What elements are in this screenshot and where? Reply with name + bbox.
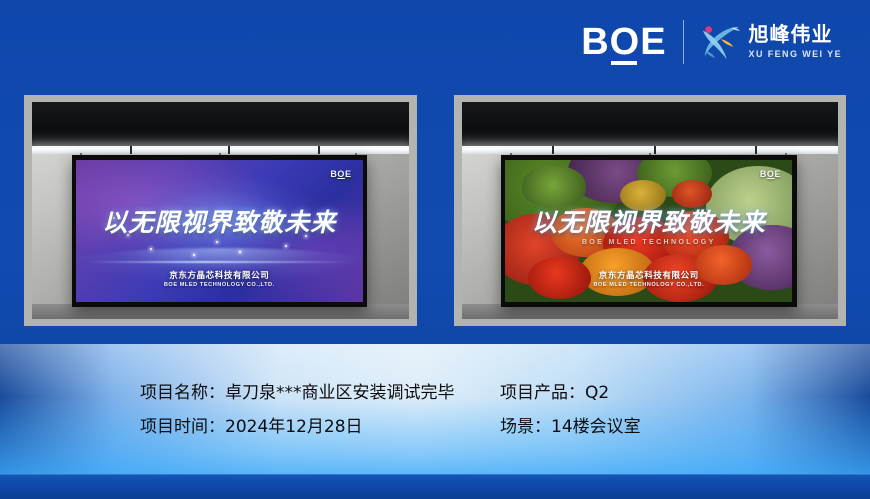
boe-logo-text: BOE <box>581 22 666 62</box>
ceiling <box>32 102 409 150</box>
led-screen-bezel-right: BOE 以无限视界致敬未来 BOE MLED TECHNOLOGY 京东方晶芯科… <box>501 155 797 307</box>
screen-glow-line <box>87 261 351 263</box>
partner-bird-icon <box>700 22 742 62</box>
footer-strip <box>0 474 870 499</box>
caption-grid: 项目名称：卓刀泉***商业区安装调试完毕 项目时间：2024年12月28日 项目… <box>0 344 870 475</box>
caption-value-product: Q2 <box>585 383 609 403</box>
caption-column-left: 项目名称：卓刀泉***商业区安装调试完毕 项目时间：2024年12月28日 <box>140 383 500 437</box>
led-screen-right: BOE 以无限视界致敬未来 BOE MLED TECHNOLOGY 京东方晶芯科… <box>505 160 792 301</box>
caption-label-product: 项目产品： <box>500 383 585 403</box>
photo-frame-right: BOE 以无限视界致敬未来 BOE MLED TECHNOLOGY 京东方晶芯科… <box>454 95 847 326</box>
partner-name-cn: 旭峰伟业 <box>749 24 842 46</box>
caption-panel: 项目名称：卓刀泉***商业区安装调试完毕 项目时间：2024年12月28日 项目… <box>0 344 870 475</box>
caption-row-product: 项目产品：Q2 <box>500 383 641 403</box>
led-screen-bezel-left: BOE 以无限视界致敬未来 京东方晶芯科技有限公司 BOE MLED TECHN… <box>72 155 368 307</box>
poster-canvas: BOE 旭峰伟业 XU FENG WEI YE <box>0 0 870 499</box>
screen-corp-en-left: BOE MLED TECHNOLOGY CO.,LTD. <box>76 281 363 289</box>
caption-row-scene: 场景：14楼会议室 <box>500 417 641 437</box>
photo-right: BOE 以无限视界致敬未来 BOE MLED TECHNOLOGY 京东方晶芯科… <box>462 102 839 319</box>
screen-corp-left: 京东方晶芯科技有限公司 BOE MLED TECHNOLOGY CO.,LTD. <box>76 270 363 289</box>
screen-headline-right: 以无限视界致敬未来 BOE MLED TECHNOLOGY <box>525 203 772 239</box>
caption-label-scene: 场景： <box>500 417 551 437</box>
header-logo-bar: BOE 旭峰伟业 XU FENG WEI YE <box>581 18 842 66</box>
caption-value-scene: 14楼会议室 <box>551 417 641 437</box>
screen-brand-right: BOE <box>760 169 781 179</box>
caption-label-project-date: 项目时间： <box>140 417 225 437</box>
partner-name-en: XU FENG WEI YE <box>749 48 842 60</box>
partner-logo: 旭峰伟业 XU FENG WEI YE <box>700 22 842 62</box>
caption-row-project-name: 项目名称：卓刀泉***商业区安装调试完毕 <box>140 383 500 403</box>
logo-divider <box>683 20 684 64</box>
led-screen-left: BOE 以无限视界致敬未来 京东方晶芯科技有限公司 BOE MLED TECHN… <box>76 160 363 301</box>
screen-corp-right: 京东方晶芯科技有限公司 BOE MLED TECHNOLOGY CO.,LTD. <box>505 270 792 289</box>
boe-logo: BOE <box>581 22 666 62</box>
caption-value-project-date: 2024年12月28日 <box>225 417 363 437</box>
caption-value-project-name: 卓刀泉***商业区安装调试完毕 <box>225 383 455 403</box>
photo-left: BOE 以无限视界致敬未来 京东方晶芯科技有限公司 BOE MLED TECHN… <box>32 102 409 319</box>
screen-corp-cn-right: 京东方晶芯科技有限公司 <box>505 270 792 281</box>
photo-gallery: BOE 以无限视界致敬未来 京东方晶芯科技有限公司 BOE MLED TECHN… <box>24 95 846 326</box>
caption-label-project-name: 项目名称： <box>140 383 225 403</box>
boe-logo-underline <box>611 61 637 65</box>
caption-row-project-date: 项目时间：2024年12月28日 <box>140 417 500 437</box>
screen-corp-en-right: BOE MLED TECHNOLOGY CO.,LTD. <box>505 281 792 289</box>
caption-column-right: 项目产品：Q2 场景：14楼会议室 <box>500 383 641 437</box>
photo-frame-left: BOE 以无限视界致敬未来 京东方晶芯科技有限公司 BOE MLED TECHN… <box>24 95 417 326</box>
screen-headline-left: 以无限视界致敬未来 <box>96 203 343 239</box>
screen-corp-cn-left: 京东方晶芯科技有限公司 <box>76 270 363 281</box>
screen-brand-left: BOE <box>330 169 351 179</box>
ceiling <box>462 102 839 150</box>
screen-headline-sub-right: BOE MLED TECHNOLOGY <box>525 239 772 246</box>
partner-wordmark: 旭峰伟业 XU FENG WEI YE <box>749 24 842 60</box>
